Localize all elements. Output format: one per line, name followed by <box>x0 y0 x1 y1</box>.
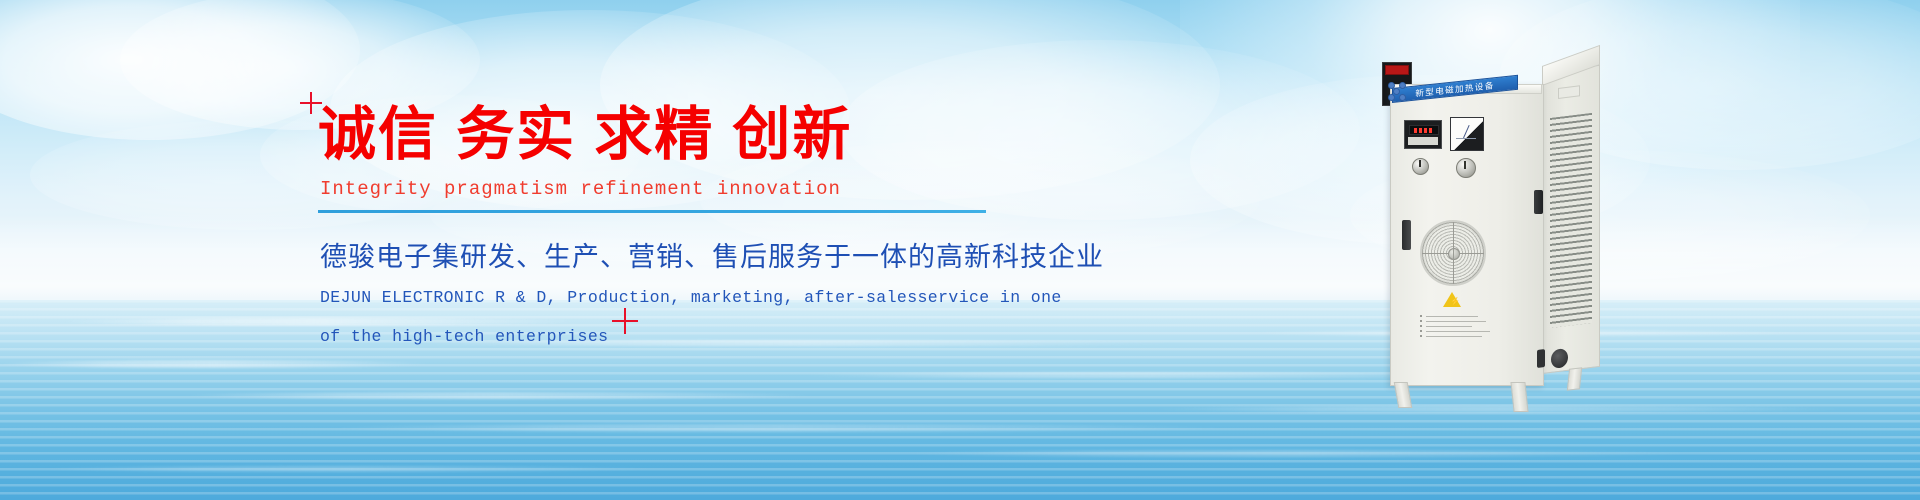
ventilation-louvers <box>1550 113 1592 328</box>
keypad-button <box>1399 82 1406 89</box>
water-streak <box>330 424 1230 432</box>
product-image-heating-equipment: 新型电磁加热设备 ⚡ <box>1382 62 1412 106</box>
warning-bolt-glyph: ⚡ <box>1450 298 1460 306</box>
rear-port-rectangular <box>1537 349 1545 368</box>
analog-ammeter <box>1450 117 1484 151</box>
page-title: 诚信 务实 求精 创新 <box>318 105 1018 166</box>
keypad-button <box>1388 94 1395 101</box>
water-streak <box>180 392 820 399</box>
selector-knob <box>1412 158 1429 175</box>
meter-scale <box>1456 138 1476 139</box>
controller-buttons <box>1408 137 1438 145</box>
cabinet-leg <box>1567 367 1582 391</box>
tagline-chinese: 德骏电子集研发、生产、营销、售后服务于一体的高新科技企业 <box>320 235 1018 274</box>
promo-banner: 诚信 务实 求精 创新 Integrity pragmatism refinem… <box>0 0 1920 500</box>
rotary-knob <box>1456 158 1476 178</box>
water-streak <box>900 450 1700 457</box>
keypad-display <box>1385 65 1409 75</box>
keypad-button <box>1399 94 1406 101</box>
water-streak <box>0 360 430 368</box>
water-streak <box>1150 406 1850 412</box>
spec-label-lines <box>1426 316 1492 341</box>
cabinet-leg <box>1510 382 1528 412</box>
cloud <box>0 0 360 140</box>
cooling-fan-grille <box>1420 220 1486 286</box>
tagline-english-line-1: DEJUN ELECTRONIC R & D, Production, mark… <box>320 284 1018 313</box>
spec-bullets <box>1420 315 1422 340</box>
keypad-button <box>1393 88 1400 95</box>
water-streak <box>40 466 660 472</box>
tagline-english-line-2: of the high-tech enterprises <box>320 323 1018 352</box>
digital-temperature-controller <box>1404 120 1442 149</box>
digital-readout <box>1409 125 1439 135</box>
cabinet-latch <box>1534 190 1543 214</box>
headline-subtitle-english: Integrity pragmatism refinement innovati… <box>320 178 1018 200</box>
divider <box>318 210 986 213</box>
fan-hub <box>1448 248 1460 260</box>
banner-text-block: 诚信 务实 求精 创新 Integrity pragmatism refinem… <box>318 105 1018 352</box>
meter-needle <box>1463 125 1470 138</box>
door-handle <box>1402 220 1411 250</box>
